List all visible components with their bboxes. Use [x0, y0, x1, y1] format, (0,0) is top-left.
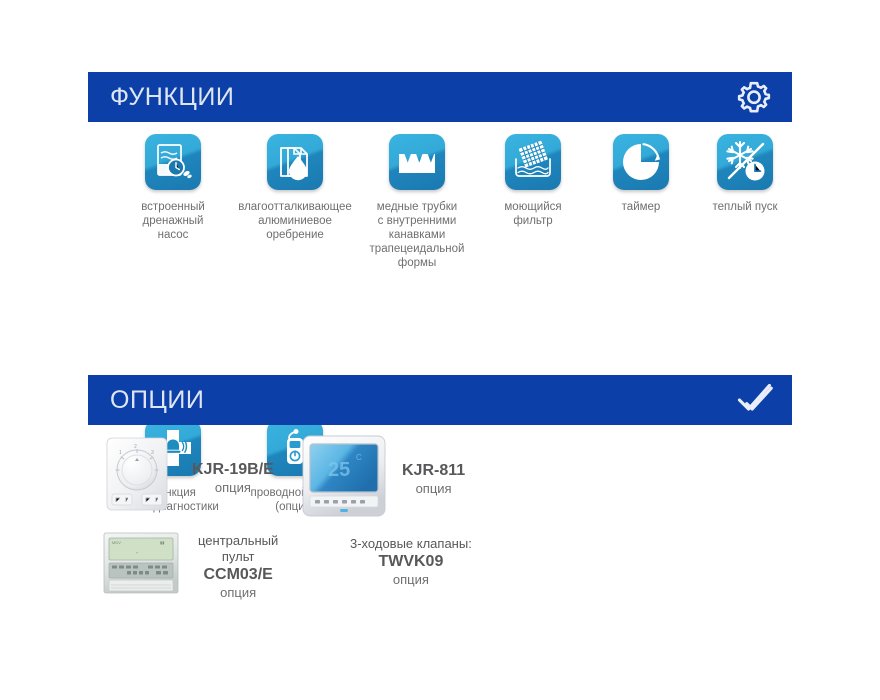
feature-row-1: встроенныйдренажныйнасос влагоотталкиваю… [88, 134, 792, 279]
central-controller-ccm03-image: MDV ▮▮ ⌐ [96, 528, 186, 605]
feature-item-grooved-copper-tube[interactable]: медные трубкис внутреннимиканавкамитрапе… [354, 134, 480, 270]
content-page: ФУНКЦИИ [88, 0, 792, 700]
feature-row-2: функциясамодиагностики [88, 279, 792, 389]
feature-grid: встроенныйдренажныйнасос влагоотталкиваю… [88, 134, 792, 389]
product-item-ccm03e[interactable]: MDV ▮▮ ⌐ [96, 528, 278, 605]
product-text: KJR-811 опция [402, 461, 465, 497]
gear-icon[interactable] [734, 77, 774, 117]
product-name: CCM03/E [198, 565, 278, 584]
feature-label: встроенныйдренажныйнасос [110, 200, 236, 242]
product-subtitle: опция [192, 479, 274, 496]
options-section-title: ОПЦИИ [110, 388, 204, 413]
svg-text:25: 25 [328, 459, 350, 481]
product-caption: центральныйпульт [198, 533, 278, 565]
product-subtitle: опция [198, 584, 278, 601]
functions-section-title: ФУНКЦИИ [110, 85, 234, 110]
options-section-header: ОПЦИИ [88, 375, 792, 425]
svg-text:2: 2 [134, 444, 137, 450]
hydrophilic-fin-icon [267, 134, 323, 190]
product-name: TWVK09 [350, 552, 472, 571]
drain-pump-icon [145, 134, 201, 190]
feature-item-hydrophilic-fin[interactable]: влагоотталкивающееалюминиевоеоребрение [232, 134, 358, 242]
product-caption: 3-ходовые клапаны: [350, 536, 472, 552]
product-subtitle: опция [402, 480, 465, 497]
product-name: KJR-19B/E [192, 460, 274, 479]
washable-filter-icon [505, 134, 561, 190]
functions-section-header: ФУНКЦИИ [88, 72, 792, 122]
product-name: KJR-811 [402, 461, 465, 480]
feature-label: медные трубкис внутреннимиканавкамитрапе… [354, 200, 480, 270]
warm-start-icon [717, 134, 773, 190]
product-text: 3-ходовые клапаны: TWVK09 опция [350, 536, 472, 588]
product-subtitle: опция [350, 571, 472, 588]
feature-item-warm-start[interactable]: теплый пуск [682, 134, 808, 214]
product-text: центральныйпульт CCM03/E опция [198, 533, 278, 601]
svg-text:▮▮: ▮▮ [160, 540, 164, 545]
timer-icon [613, 134, 669, 190]
feature-label: влагоотталкивающееалюминиевоеоребрение [232, 200, 358, 242]
grooved-copper-tube-icon [389, 134, 445, 190]
svg-text:1: 1 [119, 450, 122, 456]
product-text: KJR-19B/E опция [192, 460, 274, 496]
lcd-thermostat-kjr811-image: А 25 С [298, 430, 390, 527]
svg-text:3: 3 [151, 450, 154, 456]
product-item-kjr-19be[interactable]: 123 KJR-19B/E опция [100, 432, 274, 523]
svg-text:С: С [356, 453, 362, 462]
svg-text:MDV: MDV [112, 540, 121, 545]
feature-item-drain-pump[interactable]: встроенныйдренажныйнасос [110, 134, 236, 242]
wall-thermostat-kjr19-image: 123 [100, 432, 180, 523]
product-item-twvk09[interactable]: 3-ходовые клапаны: TWVK09 опция [350, 536, 472, 588]
check-mark-icon[interactable] [734, 380, 774, 420]
svg-text:А: А [316, 453, 322, 462]
feature-label: теплый пуск [682, 200, 808, 214]
product-item-kjr-811[interactable]: А 25 С KJR-8 [298, 430, 465, 527]
